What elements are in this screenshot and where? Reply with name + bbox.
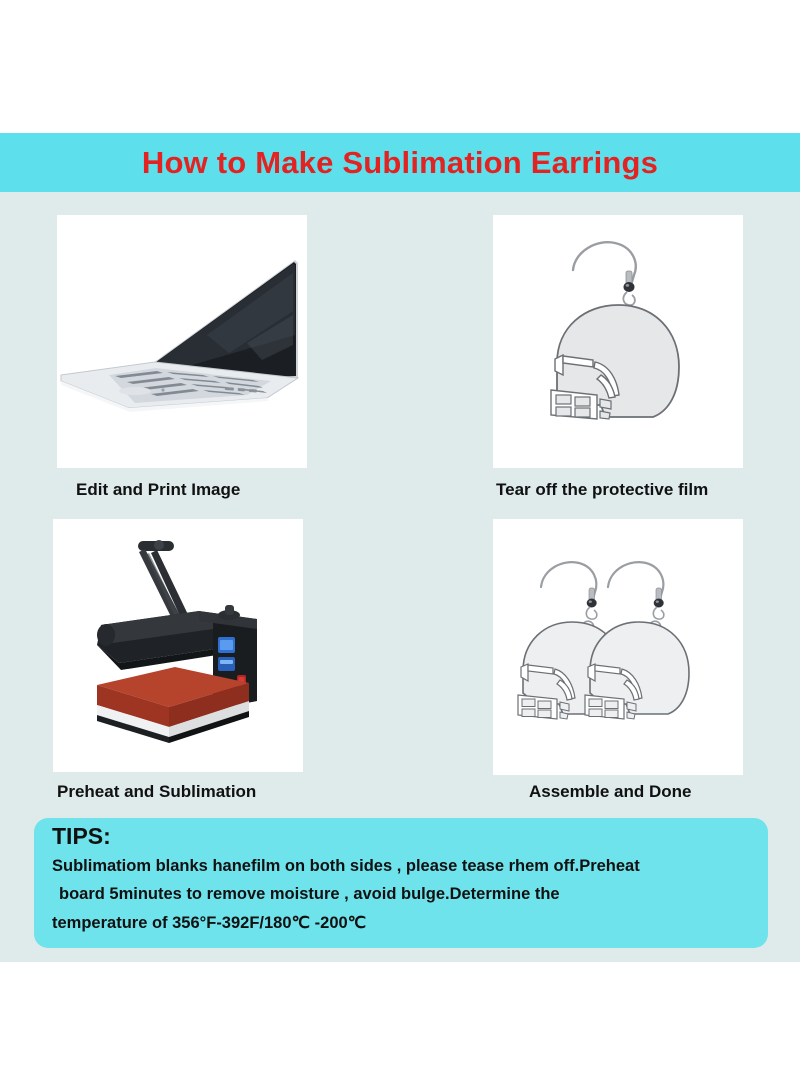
tips-line-3: temperature of 356°F-392F/180℃ -200℃ [52, 909, 752, 937]
heat-press-photo [53, 519, 303, 772]
step-4-caption: Assemble and Done [529, 782, 692, 802]
helmet-earring-pair-photo [493, 519, 743, 775]
step-3-caption: Preheat and Sublimation [57, 782, 256, 802]
helmet-earring-photo [493, 215, 743, 468]
step-2-image-panel [493, 215, 743, 468]
step-2-caption: Tear off the protective film [496, 480, 708, 500]
step-1-image-panel [57, 215, 307, 468]
step-3-image-panel [53, 519, 303, 772]
tips-line-1: Sublimatiom blanks hanefilm on both side… [52, 852, 752, 880]
title-banner: How to Make Sublimation Earrings [0, 133, 800, 192]
step-4-image-panel [493, 519, 743, 775]
page-title: How to Make Sublimation Earrings [142, 145, 658, 181]
tips-label: TIPS: [52, 825, 752, 848]
laptop-photo [57, 215, 307, 468]
tips-box: TIPS: Sublimatiom blanks hanefilm on bot… [34, 818, 768, 948]
step-1-caption: Edit and Print Image [76, 480, 240, 500]
tips-line-2: board 5minutes to remove moisture , avoi… [52, 880, 752, 908]
